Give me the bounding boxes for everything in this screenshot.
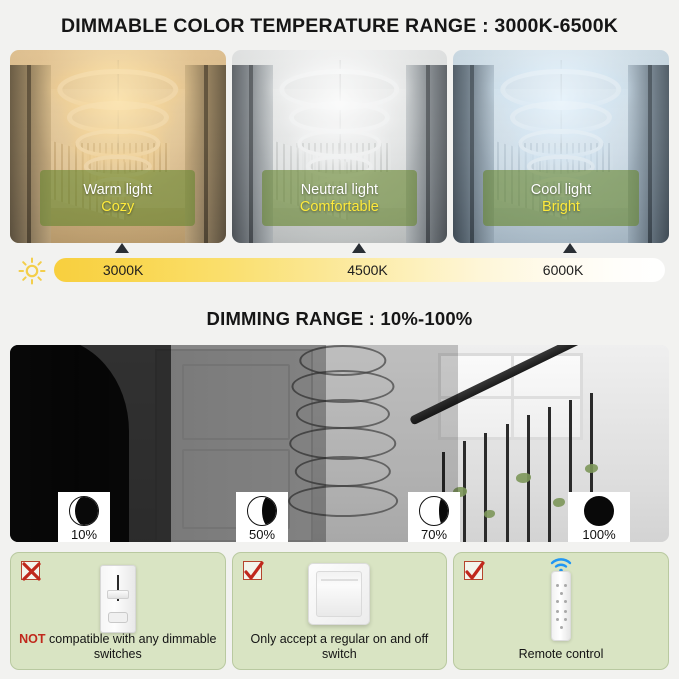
compat-label-1: NOT compatible with any dimmable switche… — [17, 632, 219, 663]
dim-level-label: 50% — [249, 527, 275, 542]
caption-line-2: Bright — [542, 199, 580, 215]
moon-fill — [75, 496, 99, 526]
mullion — [648, 65, 652, 243]
cct-section-title: DIMMABLE COLOR TEMPERATURE RANGE : 3000K… — [0, 15, 679, 38]
dim-level-10: 10% — [58, 492, 110, 542]
ivy-leaf — [553, 498, 565, 507]
remote-button — [564, 600, 567, 603]
remote-button — [560, 592, 563, 595]
spiral-coil-6 — [288, 485, 398, 518]
mullion — [426, 65, 430, 243]
dim-level-100: 100% — [568, 492, 630, 542]
cross-icon — [21, 561, 40, 580]
compatibility-row: NOT compatible with any dimmable switche… — [10, 552, 669, 670]
dim-level-label: 100% — [582, 527, 615, 542]
caption-line-2: Comfortable — [300, 199, 379, 215]
remote-button — [556, 610, 559, 613]
dimmer-rocker — [108, 612, 128, 623]
rocker-paddle — [316, 571, 362, 617]
compat-label-2: Only accept a regular on and off switch — [239, 632, 441, 663]
compat-box-remote: Remote control — [453, 552, 669, 670]
caption-line-1: Warm light — [83, 182, 152, 198]
not-emphasis: NOT — [19, 632, 45, 646]
remote-button — [564, 618, 567, 621]
ring-3 — [519, 129, 604, 157]
scale-marker-4500k — [352, 243, 366, 253]
check-icon — [464, 561, 483, 580]
check-glyph — [463, 560, 486, 583]
cross-glyph — [20, 560, 43, 583]
dimmer-switch-illustration — [100, 565, 136, 633]
dim-level-label: 70% — [421, 527, 447, 542]
dimming-section-title: DIMMING RANGE : 10%-100% — [0, 308, 679, 330]
kelvin-tick-3000k: 3000K — [103, 262, 143, 278]
dim-level-70: 70% — [408, 492, 460, 542]
mullion — [204, 65, 208, 243]
baluster — [506, 424, 509, 542]
ring-3 — [297, 129, 382, 157]
cct-panel-neutral: Neutral light Comfortable — [232, 50, 448, 243]
mullion — [27, 65, 31, 243]
check-glyph — [242, 560, 265, 583]
compat-label-text: compatible with any dimmable switches — [46, 632, 217, 662]
dimmer-knob — [107, 590, 129, 599]
remote-button — [556, 618, 559, 621]
rocker-switch-illustration — [308, 563, 370, 625]
sun-icon — [18, 257, 46, 285]
brightness-moon-icon — [419, 496, 449, 526]
brightness-moon-icon — [584, 496, 614, 526]
remote-control-illustration — [551, 571, 571, 641]
compat-label-3: Remote control — [460, 647, 662, 663]
moon-fill — [262, 496, 277, 526]
ring-3 — [76, 129, 161, 157]
check-icon — [243, 561, 262, 580]
remote-button — [556, 584, 559, 587]
cct-panel-warm: Warm light Cozy — [10, 50, 226, 243]
moon-fill — [439, 496, 449, 526]
infographic-page: DIMMABLE COLOR TEMPERATURE RANGE : 3000K… — [0, 0, 679, 679]
compat-box-regular-switch: Only accept a regular on and off switch — [232, 552, 448, 670]
caption-neutral: Neutral light Comfortable — [262, 170, 417, 226]
compat-box-not-dimmable: NOT compatible with any dimmable switche… — [10, 552, 226, 670]
ivy-leaf — [585, 464, 598, 473]
mullion — [470, 65, 474, 243]
remote-button — [564, 584, 567, 587]
caption-cool: Cool light Bright — [483, 170, 638, 226]
kelvin-tick-6000k: 6000K — [543, 262, 583, 278]
cct-panel-row: Warm light Cozy — [10, 50, 669, 243]
dimming-demo-photo: 10% 50% 70% 100% — [10, 345, 669, 542]
caption-line-1: Cool light — [531, 182, 591, 198]
remote-button — [564, 610, 567, 613]
scale-marker-3000k — [115, 243, 129, 253]
brightness-moon-icon — [247, 496, 277, 526]
scale-marker-6000k — [563, 243, 577, 253]
caption-line-1: Neutral light — [301, 182, 378, 198]
remote-button — [560, 626, 563, 629]
kelvin-tick-4500k: 4500K — [347, 262, 387, 278]
remote-button — [556, 600, 559, 603]
dim-level-label: 10% — [71, 527, 97, 542]
cct-panel-cool: Cool light Bright — [453, 50, 669, 243]
color-temperature-scale: 3000K 4500K 6000K — [10, 252, 669, 292]
caption-warm: Warm light Cozy — [40, 170, 195, 226]
spiral-coil-5 — [295, 456, 391, 487]
ivy-leaf — [484, 510, 495, 518]
brightness-moon-icon — [69, 496, 99, 526]
baluster — [548, 407, 551, 542]
caption-line-2: Cozy — [101, 199, 134, 215]
mullion — [249, 65, 253, 243]
spiral-chandelier — [287, 345, 399, 542]
baluster — [484, 433, 487, 542]
spiral-coil-3 — [296, 399, 390, 430]
kelvin-gradient-bar: 3000K 4500K 6000K — [54, 258, 665, 282]
dim-level-50: 50% — [236, 492, 288, 542]
